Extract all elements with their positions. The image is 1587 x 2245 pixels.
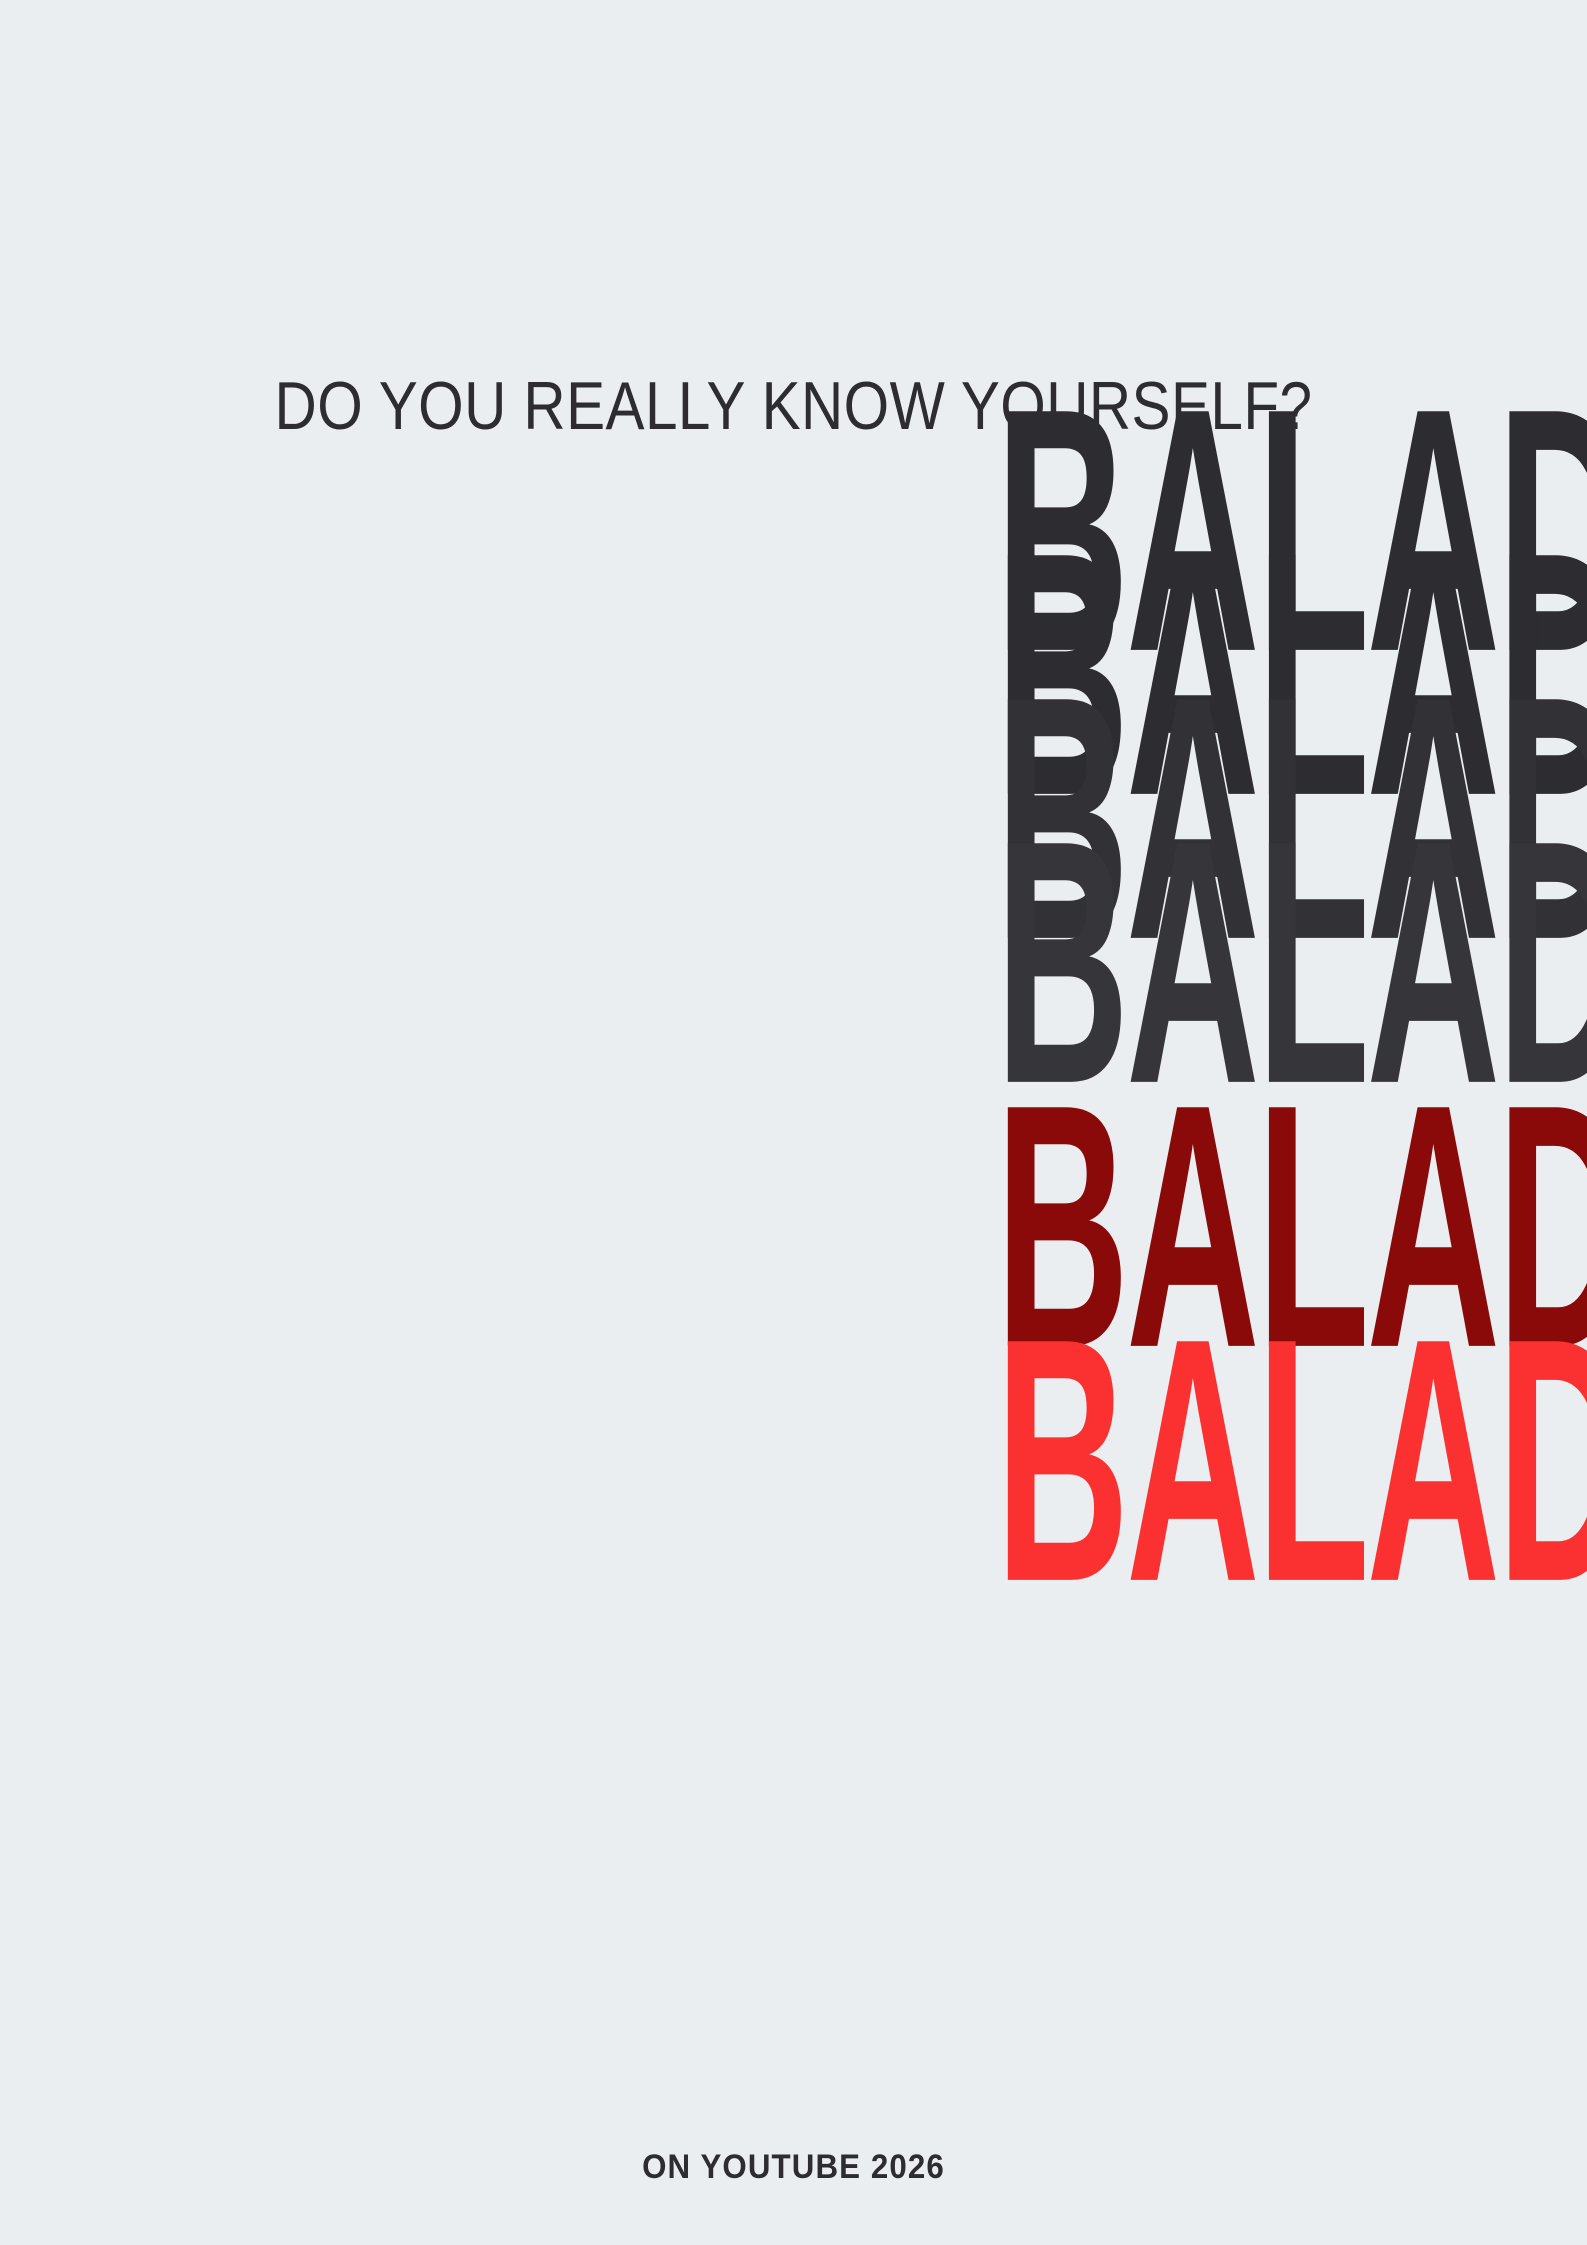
title-layer-5-text: BALADA DE LA TROMPETA bbox=[995, 1100, 1587, 1353]
title-layer-4-text: BALADA DE LA TROMPETA bbox=[995, 836, 1587, 1089]
title-layer-2: BALADA DE LA TROMPETA bbox=[0, 548, 1587, 796]
title-layer-5-deep-red: BALADA DE LA TROMPETA bbox=[0, 1100, 1587, 1348]
poster-title-stack: BALADA DE LA TROMPETA BALADA DE LA TROMP… bbox=[0, 0, 1587, 2245]
poster-tagline: DO YOU REALLY KNOW YOURSELF? bbox=[111, 372, 1476, 440]
title-layer-6-bright-red: BALADA DE LA TROMPETA bbox=[0, 1334, 1587, 1582]
title-layer-6-text: BALADA DE LA TROMPETA bbox=[995, 1334, 1587, 1587]
title-layer-4: BALADA DE LA TROMPETA bbox=[0, 836, 1587, 1084]
title-layer-2-text: BALADA DE LA TROMPETA bbox=[995, 548, 1587, 801]
title-layer-3-text: BALADA DE LA TROMPETA bbox=[995, 692, 1587, 945]
title-layer-3: BALADA DE LA TROMPETA bbox=[0, 692, 1587, 940]
poster-footer: ON YOUTUBE 2026 bbox=[63, 2148, 1523, 2187]
poster-canvas: DO YOU REALLY KNOW YOURSELF? BALADA DE L… bbox=[0, 0, 1587, 2245]
